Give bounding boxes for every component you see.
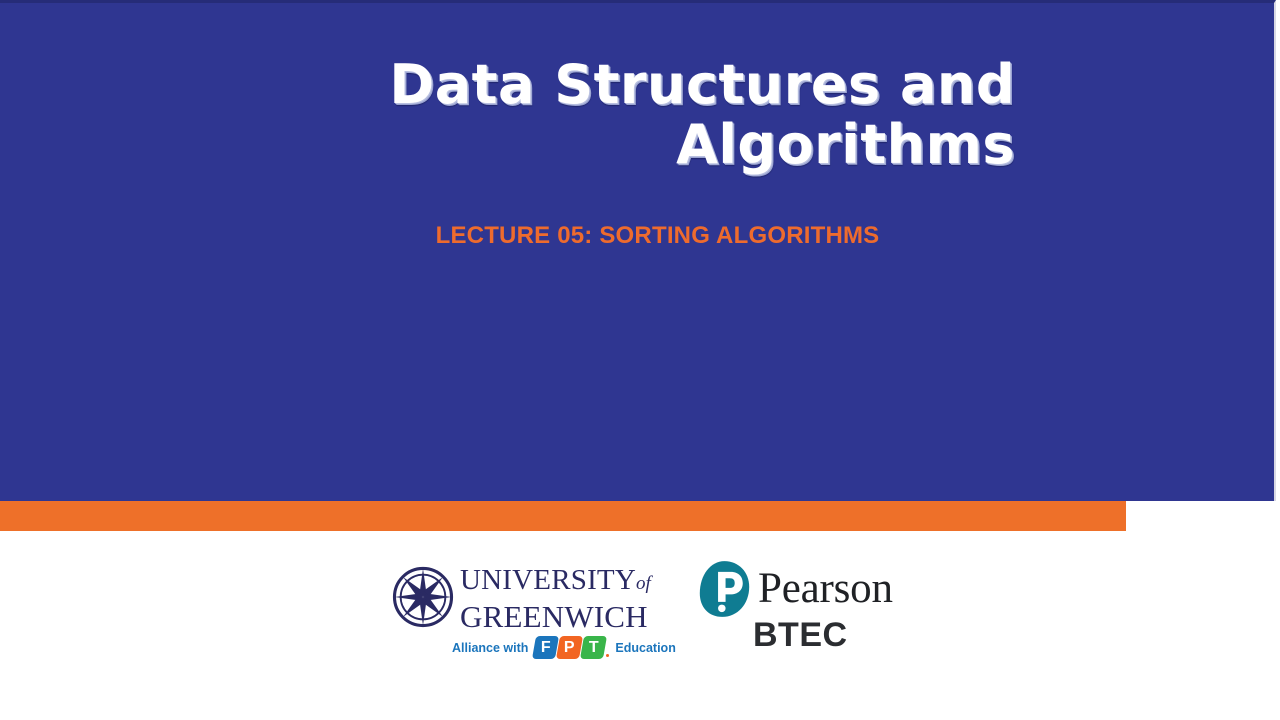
fpt-letter-f: F — [532, 636, 559, 659]
fpt-alliance-row: Alliance with F P T Education — [452, 636, 676, 659]
alliance-prefix-label: Alliance with — [452, 641, 528, 655]
fpt-logo-icon: F P T — [534, 636, 609, 659]
page-title: Data Structures and Algorithms — [300, 55, 1015, 175]
title-line-2: Algorithms — [300, 115, 1015, 175]
greenwich-of-word: of — [636, 573, 651, 594]
lecture-subtitle: LECTURE 05: SORTING ALGORITHMS — [300, 222, 1015, 250]
pearson-brand-name: Pearson — [758, 564, 893, 613]
alliance-suffix-label: Education — [615, 641, 675, 655]
fpt-letter-t: T — [580, 636, 607, 659]
fpt-dot-icon — [606, 654, 609, 657]
greenwich-name-word: GREENWICH — [460, 600, 654, 633]
btec-qualification-name: BTEC — [753, 616, 848, 654]
pearson-p-interrobang-icon — [697, 560, 752, 618]
accent-bar — [0, 501, 1126, 531]
compass-rose-icon — [392, 566, 454, 628]
presentation-slide: Data Structures and Algorithms LECTURE 0… — [0, 0, 1280, 720]
greenwich-university-word: UNIVERSITY — [460, 564, 636, 596]
pearson-btec-logo: Pearson BTEC — [697, 560, 897, 670]
title-line-1: Data Structures and — [300, 55, 1015, 115]
footer-logo-strip: UNIVERSITYof GREENWICH Alliance with F P… — [0, 548, 1280, 678]
greenwich-wordmark: UNIVERSITYof GREENWICH — [460, 564, 654, 633]
greenwich-logo: UNIVERSITYof GREENWICH Alliance with F P… — [392, 558, 654, 670]
fpt-letter-p: P — [556, 636, 583, 659]
